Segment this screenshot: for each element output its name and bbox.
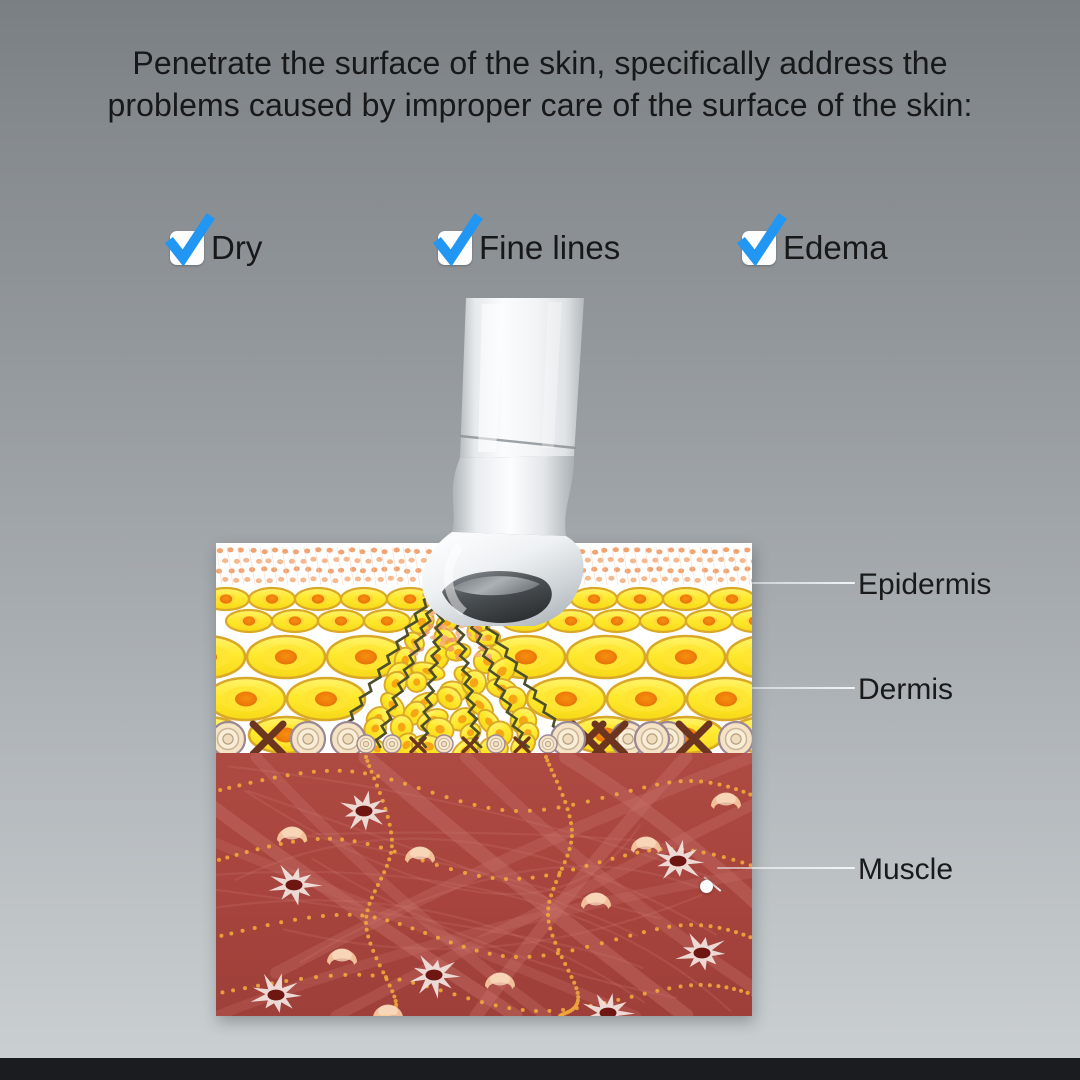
checkbox-item-dry[interactable]: Dry	[170, 222, 262, 274]
leader-line-dermis	[752, 687, 855, 689]
leader-line-muscle	[717, 867, 855, 869]
leader-dot-muscle	[700, 880, 713, 893]
checkbox-label-fine-lines: Fine lines	[479, 231, 620, 265]
checkmark-icon	[739, 218, 783, 270]
checkbox-box-dry[interactable]	[170, 231, 204, 265]
checkmark-icon	[435, 218, 479, 270]
layer-label-epidermis: Epidermis	[858, 568, 991, 602]
bottom-letterbox-bar	[0, 1058, 1080, 1080]
layer-label-dermis: Dermis	[858, 673, 953, 707]
condition-checkbox-row: Dry Fine lines Edema	[0, 222, 1080, 274]
page-title: Penetrate the surface of the skin, speci…	[70, 42, 1010, 126]
checkbox-item-edema[interactable]: Edema	[742, 222, 888, 274]
skin-layers-illustration	[216, 543, 752, 1016]
layer-label-muscle: Muscle	[858, 853, 953, 887]
checkbox-label-edema: Edema	[783, 231, 888, 265]
checkmark-icon	[167, 218, 211, 270]
checkbox-box-fine-lines[interactable]	[438, 231, 472, 265]
checkbox-item-fine-lines[interactable]: Fine lines	[438, 222, 620, 274]
leader-line-epidermis	[752, 582, 855, 584]
checkbox-label-dry: Dry	[211, 231, 262, 265]
checkbox-box-edema[interactable]	[742, 231, 776, 265]
skin-cross-section-diagram	[216, 543, 752, 1016]
